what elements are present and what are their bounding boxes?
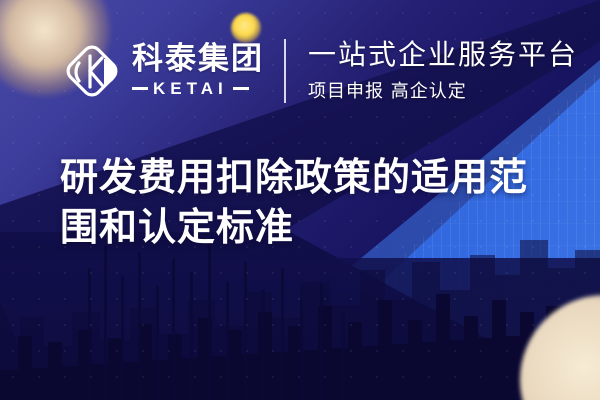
brand-name-en-row: KETAI (132, 79, 264, 99)
brand-name-cn: 科泰集团 (132, 43, 264, 75)
wordmark-rule-left (132, 87, 148, 90)
promo-banner: 科泰集团 KETAI 一站式企业服务平台 项目申报 高企认定 研发费用扣除政策的… (0, 0, 600, 400)
page-title: 研发费用扣除政策的适用范围和认定标准 (60, 152, 560, 252)
slogan-main: 一站式企业服务平台 (308, 39, 578, 70)
banner-header: 科泰集团 KETAI 一站式企业服务平台 项目申报 高企认定 (60, 36, 578, 106)
brand-name-en: KETAI (153, 79, 228, 99)
slogan-sub: 项目申报 高企认定 (308, 77, 578, 103)
slogan-block: 一站式企业服务平台 项目申报 高企认定 (308, 39, 578, 103)
wordmark-rule-right (233, 87, 249, 90)
brand-wordmark: 科泰集团 KETAI (132, 43, 264, 98)
vertical-divider (284, 39, 286, 103)
ketai-diamond-kd-logo-icon (60, 39, 124, 103)
